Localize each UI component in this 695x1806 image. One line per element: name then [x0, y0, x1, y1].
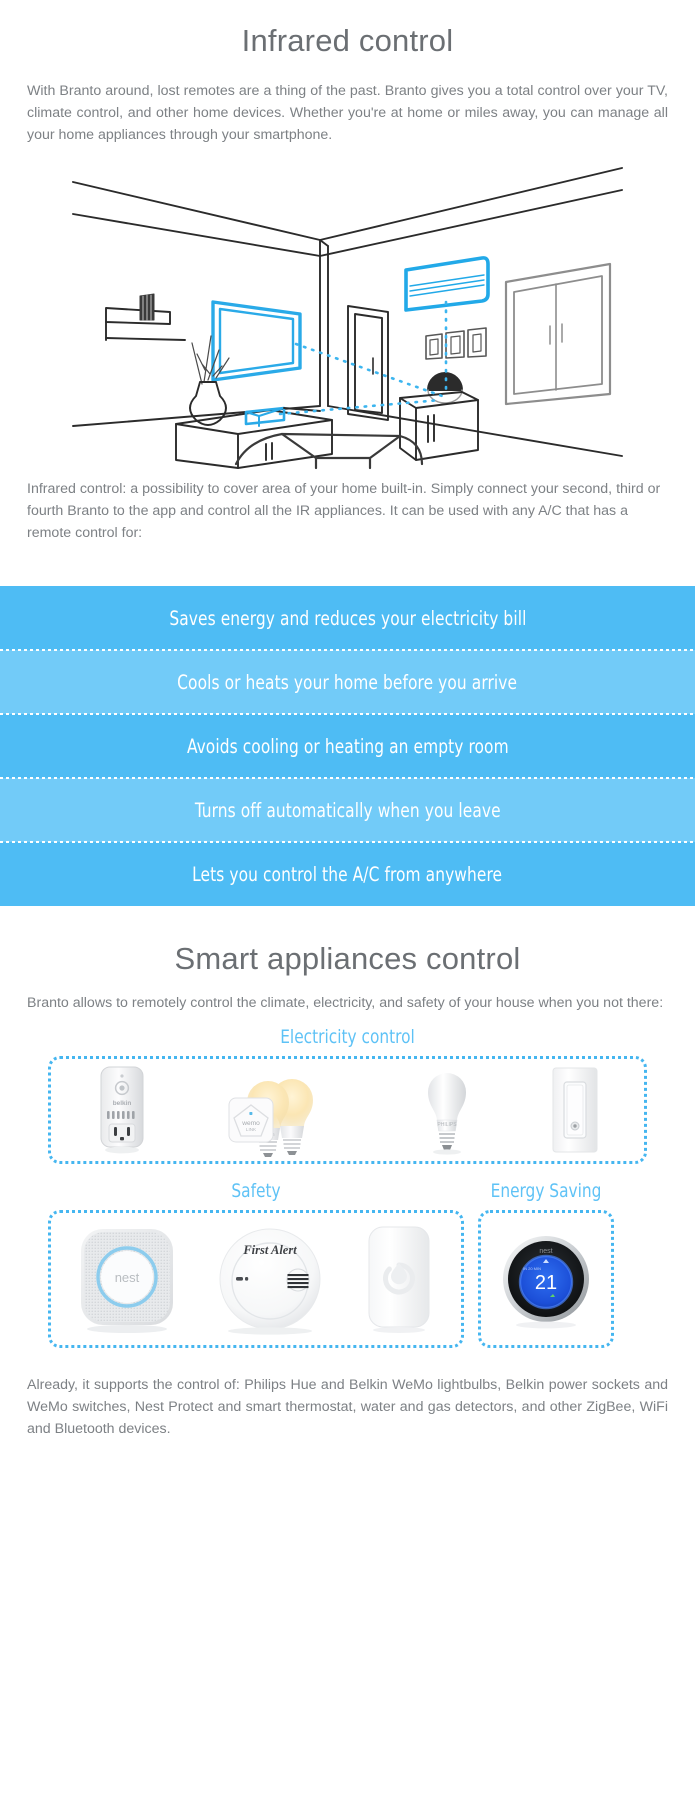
- benefits-band-list: Saves energy and reduces your electricit…: [0, 586, 695, 906]
- wemo-link-and-bulbs-icon: belkin wemo LINK: [227, 1064, 345, 1156]
- electricity-product-box: belkin: [48, 1056, 647, 1164]
- product-wemo-link-and-bulbs: belkin wemo LINK: [227, 1064, 345, 1156]
- first-alert-smoke-detector-icon: First Alert: [214, 1223, 326, 1335]
- svg-text:LINK: LINK: [246, 1127, 257, 1132]
- infrared-caption-paragraph: Infrared control: a possibility to cover…: [0, 478, 695, 544]
- smart-appliances-title: Smart appliances control: [0, 906, 695, 976]
- product-belkin-wemo-smart-plug: belkin: [93, 1064, 155, 1156]
- benefit-label: Avoids cooling or heating an empty room: [187, 735, 509, 758]
- infrared-intro-paragraph: With Branto around, lost remotes are a t…: [0, 58, 695, 146]
- product-nest-learning-thermostat: nest 21 IN 20 MIN: [496, 1227, 596, 1331]
- benefit-band: Turns off automatically when you leave: [0, 778, 695, 842]
- safety-group-title: Safety: [69, 1180, 443, 1210]
- belkin-wemo-smart-plug-icon: belkin: [93, 1064, 155, 1156]
- svg-text:belkin: belkin: [113, 1100, 132, 1107]
- product-philips-hue-bulb: PHILIPS: [418, 1064, 476, 1156]
- benefit-band: Avoids cooling or heating an empty room: [0, 714, 695, 778]
- philips-hue-bulb-icon: PHILIPS: [418, 1064, 476, 1156]
- benefit-label: Saves energy and reduces your electricit…: [169, 607, 526, 630]
- benefit-band: Lets you control the A/C from anywhere: [0, 842, 695, 906]
- energy-group-title: Energy Saving: [485, 1180, 607, 1210]
- svg-text:nest: nest: [539, 1248, 552, 1255]
- benefit-band: Cools or heats your home before you arri…: [0, 650, 695, 714]
- svg-text:PHILIPS: PHILIPS: [437, 1122, 457, 1128]
- nest-protect-icon: nest: [73, 1223, 181, 1335]
- benefit-label: Cools or heats your home before you arri…: [178, 671, 518, 694]
- nest-thermostat-icon: nest 21 IN 20 MIN: [496, 1227, 596, 1331]
- page-root: Infrared control With Branto around, los…: [0, 0, 695, 1806]
- living-room-line-illustration: [70, 168, 625, 468]
- page-title: Infrared control: [0, 0, 695, 58]
- energy-group: Energy Saving: [478, 1180, 614, 1348]
- thermostat-temperature: 21: [535, 1272, 557, 1294]
- svg-text:First Alert: First Alert: [242, 1243, 297, 1257]
- safety-energy-row: Safety: [0, 1164, 695, 1348]
- benefit-label: Lets you control the A/C from anywhere: [192, 863, 502, 886]
- electricity-group: Electricity control belkin: [0, 1014, 695, 1164]
- electricity-group-title: Electricity control: [78, 1026, 617, 1056]
- benefit-label: Turns off automatically when you leave: [195, 799, 501, 822]
- smart-appliances-intro: Branto allows to remotely control the cl…: [0, 976, 695, 1014]
- product-wemo-light-switch: [548, 1064, 602, 1156]
- svg-text:nest: nest: [115, 1270, 140, 1285]
- svg-text:IN 20 MIN: IN 20 MIN: [523, 1266, 541, 1271]
- supported-devices-footer: Already, it supports the control of: Phi…: [0, 1348, 695, 1440]
- wemo-light-switch-icon: [548, 1064, 602, 1156]
- living-room-illustration-wrapper: [0, 146, 695, 478]
- safety-group: Safety: [48, 1180, 464, 1348]
- product-water-leak-detector: [359, 1223, 439, 1335]
- water-leak-detector-icon: [359, 1223, 439, 1335]
- benefit-band: Saves energy and reduces your electricit…: [0, 586, 695, 650]
- safety-product-box: nest First Alert: [48, 1210, 464, 1348]
- product-first-alert-smoke-detector: First Alert: [214, 1223, 326, 1335]
- energy-product-box: nest 21 IN 20 MIN: [478, 1210, 614, 1348]
- svg-text:wemo: wemo: [242, 1120, 261, 1127]
- product-nest-protect-smoke-alarm: nest: [73, 1223, 181, 1335]
